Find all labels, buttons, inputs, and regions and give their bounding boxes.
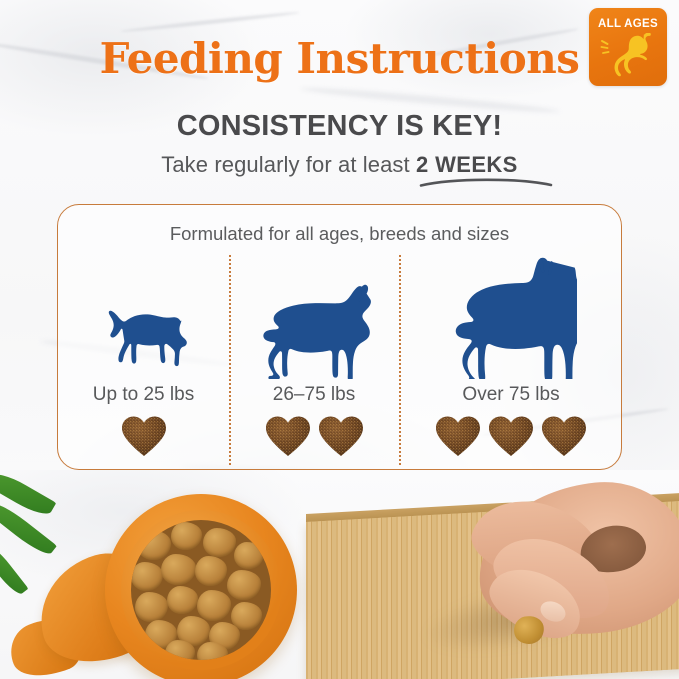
treat-group-large (399, 415, 623, 458)
heart-treat-icon (435, 415, 481, 458)
size-column-large: Over 75 lbs (399, 259, 623, 458)
heart-treat-icon (265, 415, 311, 458)
heart-treat-icon (488, 415, 534, 458)
subline-prefix: Take regularly for at least (161, 152, 416, 177)
subline-text: Take regularly for at least 2 WEEKS (0, 152, 679, 178)
all-ages-badge: ALL AGES (589, 8, 667, 86)
heart-treat-icon (318, 415, 364, 458)
large-dog-silhouette-icon (445, 257, 577, 379)
size-column-small: Up to 25 lbs (58, 259, 229, 458)
small-dog-silhouette-icon (100, 297, 188, 379)
weight-label-medium: 26–75 lbs (229, 384, 399, 406)
treat-group-small (58, 415, 229, 458)
treat-group-medium (229, 415, 399, 458)
heart-treat-icon (121, 415, 167, 458)
weight-label-small: Up to 25 lbs (58, 384, 229, 406)
product-photo (0, 470, 679, 679)
weight-label-large: Over 75 lbs (399, 384, 623, 406)
orange-kibble-bowl (105, 494, 297, 679)
medium-dog-silhouette-icon (254, 275, 374, 379)
headline-text: CONSISTENCY IS KEY! (0, 110, 679, 143)
feeding-chart-card: Formulated for all ages, breeds and size… (57, 204, 622, 470)
hand-holding-kibble (430, 470, 679, 655)
subline-emphasis: 2 WEEKS (416, 152, 518, 177)
heart-treat-icon (541, 415, 587, 458)
badge-label: ALL AGES (589, 18, 667, 30)
bowl-kibble-fill (131, 520, 271, 660)
infographic-canvas: Feeding Instructions ALL AGES CONSISTENC… (0, 0, 679, 679)
sitting-dog-icon (599, 33, 657, 79)
underline-swoosh-icon (419, 176, 553, 188)
card-subtitle: Formulated for all ages, breeds and size… (58, 223, 621, 245)
page-title: Feeding Instructions (0, 34, 679, 83)
size-column-medium: 26–75 lbs (229, 259, 399, 458)
